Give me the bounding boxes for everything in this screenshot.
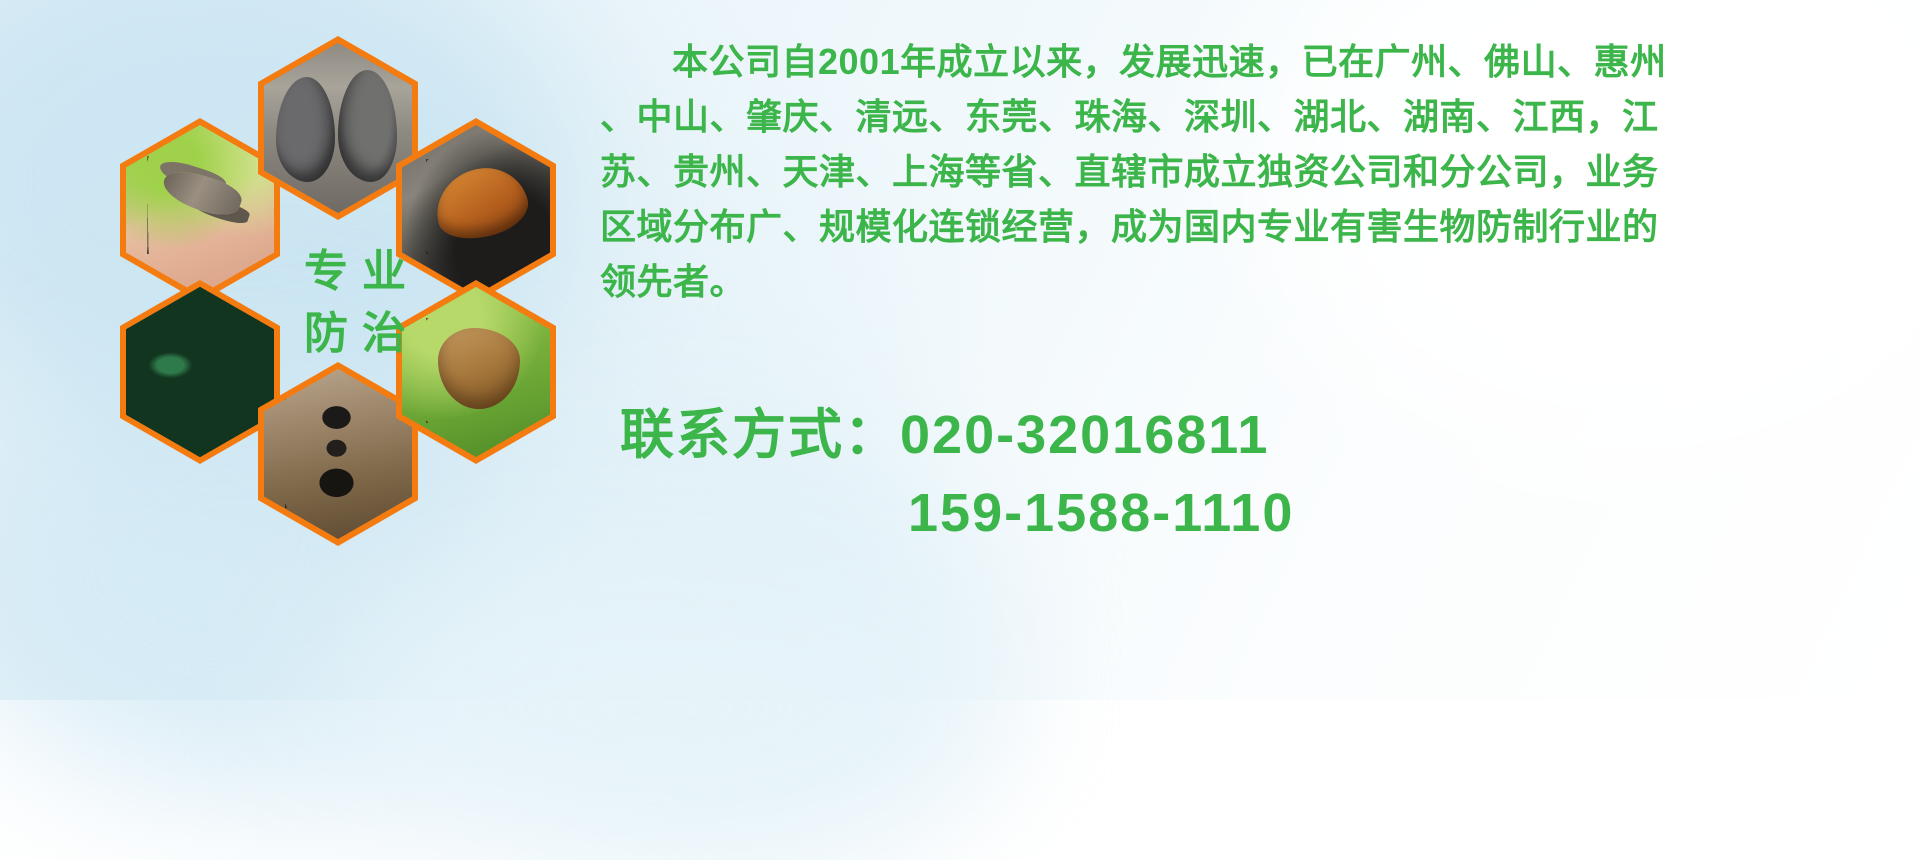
contact-phone-primary[interactable]: 联系方式：020-32016811 [620, 396, 1900, 474]
rats-photo [264, 43, 412, 213]
contact-phone-mobile[interactable]: 159-1588-1110 [620, 474, 1900, 552]
hex-cell-flies [120, 280, 280, 464]
intro-line: 、中山、肇庆、清远、东莞、珠海、深圳、湖北、湖南、江西，江 [600, 89, 1890, 144]
hex-cell-mosquito [120, 118, 280, 302]
mosquito-photo [126, 125, 274, 295]
intro-line: 苏、贵州、天津、上海等省、直辖市成立独资公司和分公司，业务 [600, 144, 1890, 199]
intro-paragraph: 本公司自2001年成立以来，发展迅速，已在广州、佛山、惠州 、中山、肇庆、清远、… [600, 34, 1890, 309]
intro-line: 领先者。 [600, 254, 1890, 309]
slogan-block: 专业 防治 [260, 198, 450, 408]
intro-line: 区域分布广、规模化连锁经营，成为国内专业有害生物防制行业的 [600, 199, 1890, 254]
slogan-line-1: 专业 [290, 250, 420, 294]
promotional-banner: 专业 防治 本公司自2001年成立以来，发展迅速，已在广州、佛山、惠州 、中山、… [0, 0, 1920, 700]
slogan-line-2: 防治 [290, 312, 420, 356]
background-wash [300, 560, 1000, 860]
hex-cell-rats [258, 36, 418, 220]
contact-block: 联系方式：020-32016811 159-1588-1110 [620, 396, 1900, 552]
honeycomb-collage: 专业 防治 [80, 8, 600, 588]
flies-photo [126, 287, 274, 457]
intro-line: 本公司自2001年成立以来，发展迅速，已在广州、佛山、惠州 [600, 34, 1890, 89]
